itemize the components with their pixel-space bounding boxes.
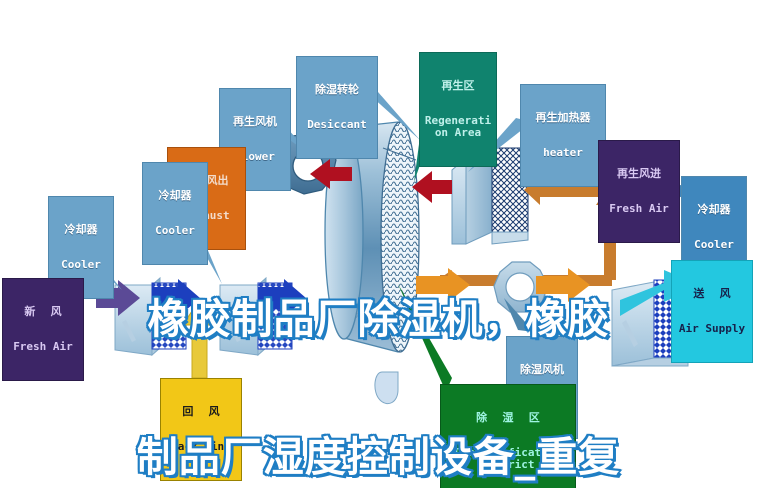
label-cooler-left-en: Cooler <box>51 259 111 271</box>
label-regeneration-area: 再生区 Regenerati on Area <box>419 52 497 167</box>
label-regeneration-heater-cn: 再生加热器 <box>523 112 603 124</box>
label-cooler-mid-cn: 冷却器 <box>145 190 205 202</box>
label-dehumidification-blower-cn: 除湿风机 <box>509 364 575 376</box>
label-cooler-right-cn: 冷却器 <box>684 204 744 216</box>
desiccant-rotor: x1 <box>325 122 419 404</box>
label-regeneration-area-cn: 再生区 <box>422 80 494 92</box>
label-air-supply: 送 风 Air Supply <box>671 260 753 363</box>
label-regeneration-heater: 再生加热器 heater <box>520 84 606 187</box>
label-cooler-mid: 冷却器 Cooler <box>142 162 208 265</box>
label-cooler-mid-en: Cooler <box>145 225 205 237</box>
label-regeneration-fresh-air-en: Fresh Air <box>601 203 677 215</box>
label-fresh-air-in-en: Fresh Air <box>5 341 81 353</box>
label-desiccant-en: Desiccant <box>299 119 375 131</box>
label-dehumidification-district-cn: 除 湿 区 <box>443 412 573 424</box>
dehumidifier-schematic-diagram: x1 <box>0 0 757 488</box>
label-fresh-air-in-cn: 新 风 <box>5 306 81 318</box>
label-back-wind-cn: 回 风 <box>163 406 239 418</box>
label-regeneration-fresh-air-cn: 再生风进 <box>601 168 677 180</box>
label-dehumidification-district: 除 湿 区 Dehumidification District <box>440 384 576 488</box>
label-air-supply-en: Air Supply <box>674 323 750 335</box>
svg-text:x1: x1 <box>355 308 368 321</box>
label-desiccant-cn: 除湿转轮 <box>299 84 375 96</box>
rotor-out-arrow-1 <box>416 268 470 302</box>
label-air-supply-cn: 送 风 <box>674 288 750 300</box>
label-desiccant: 除湿转轮 Desiccant <box>296 56 378 159</box>
label-fresh-air-in: 新 风 Fresh Air <box>2 278 84 381</box>
label-dehumidification-district-en: Dehumidification District <box>443 447 573 471</box>
label-cooler-right-en: Cooler <box>684 239 744 251</box>
label-back-wind: 回 风 Back wind <box>160 378 242 481</box>
label-regeneration-blower-cn: 再生风机 <box>222 116 288 128</box>
label-back-wind-en: Back wind <box>163 441 239 453</box>
label-regeneration-heater-en: heater <box>523 147 603 159</box>
back-wind-riser-arrow <box>183 300 215 378</box>
label-regeneration-area-en: Regenerati on Area <box>422 115 494 139</box>
label-regeneration-fresh-air: 再生风进 Fresh Air <box>598 140 680 243</box>
label-cooler-left-cn: 冷却器 <box>51 224 111 236</box>
